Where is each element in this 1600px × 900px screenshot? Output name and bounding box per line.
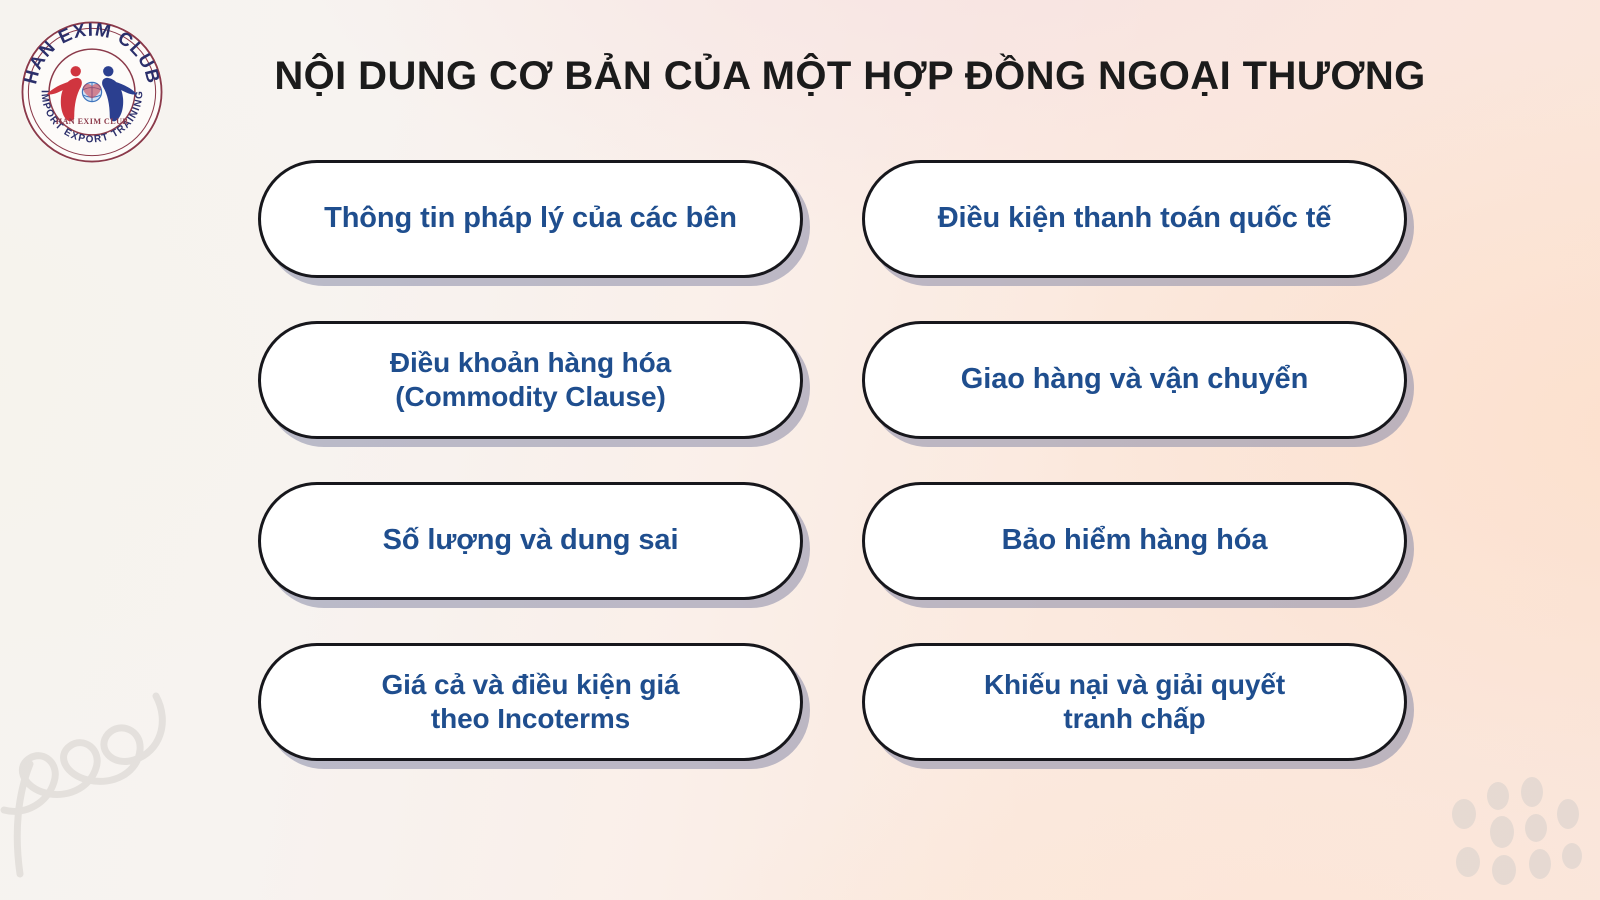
pill-slot: Bảo hiểm hàng hóa: [862, 482, 1407, 604]
pill-slot: Thông tin pháp lý của các bên: [258, 160, 803, 282]
pill-label: Giao hàng và vận chuyển: [961, 362, 1308, 397]
infographic-canvas: HAN EXIM CLUB IMPORT EXPORT TRAINING HAN…: [0, 0, 1600, 900]
pill-international-payment[interactable]: Điều kiện thanh toán quốc tế: [862, 160, 1407, 278]
pill-legal-information[interactable]: Thông tin pháp lý của các bên: [258, 160, 803, 278]
pill-claims-dispute[interactable]: Khiếu nại và giải quyết tranh chấp: [862, 643, 1407, 761]
pill-cargo-insurance[interactable]: Bảo hiểm hàng hóa: [862, 482, 1407, 600]
pill-price-incoterms[interactable]: Giá cả và điều kiện giá theo Incoterms: [258, 643, 803, 761]
pill-label: Khiếu nại và giải quyết tranh chấp: [984, 668, 1285, 736]
pill-slot: Điều kiện thanh toán quốc tế: [862, 160, 1407, 282]
pill-slot: Giá cả và điều kiện giá theo Incoterms: [258, 643, 803, 765]
left-column: Thông tin pháp lý của các bên Điều khoản…: [258, 160, 803, 804]
pill-label: Giá cả và điều kiện giá theo Incoterms: [381, 668, 679, 736]
right-column: Điều kiện thanh toán quốc tế Giao hàng v…: [862, 160, 1407, 804]
pill-label: Thông tin pháp lý của các bên: [324, 201, 737, 236]
pill-delivery-transport[interactable]: Giao hàng và vận chuyển: [862, 321, 1407, 439]
pill-slot: Số lượng và dung sai: [258, 482, 803, 604]
content-grid: Thông tin pháp lý của các bên Điều khoản…: [0, 0, 1600, 900]
pill-slot: Giao hàng và vận chuyển: [862, 321, 1407, 443]
pill-label: Số lượng và dung sai: [383, 523, 679, 558]
pill-label: Điều kiện thanh toán quốc tế: [938, 201, 1332, 236]
pill-label: Điều khoản hàng hóa (Commodity Clause): [390, 346, 671, 414]
pill-slot: Điều khoản hàng hóa (Commodity Clause): [258, 321, 803, 443]
pill-commodity-clause[interactable]: Điều khoản hàng hóa (Commodity Clause): [258, 321, 803, 439]
pill-label: Bảo hiểm hàng hóa: [1002, 523, 1268, 558]
pill-slot: Khiếu nại và giải quyết tranh chấp: [862, 643, 1407, 765]
pill-quantity-tolerance[interactable]: Số lượng và dung sai: [258, 482, 803, 600]
